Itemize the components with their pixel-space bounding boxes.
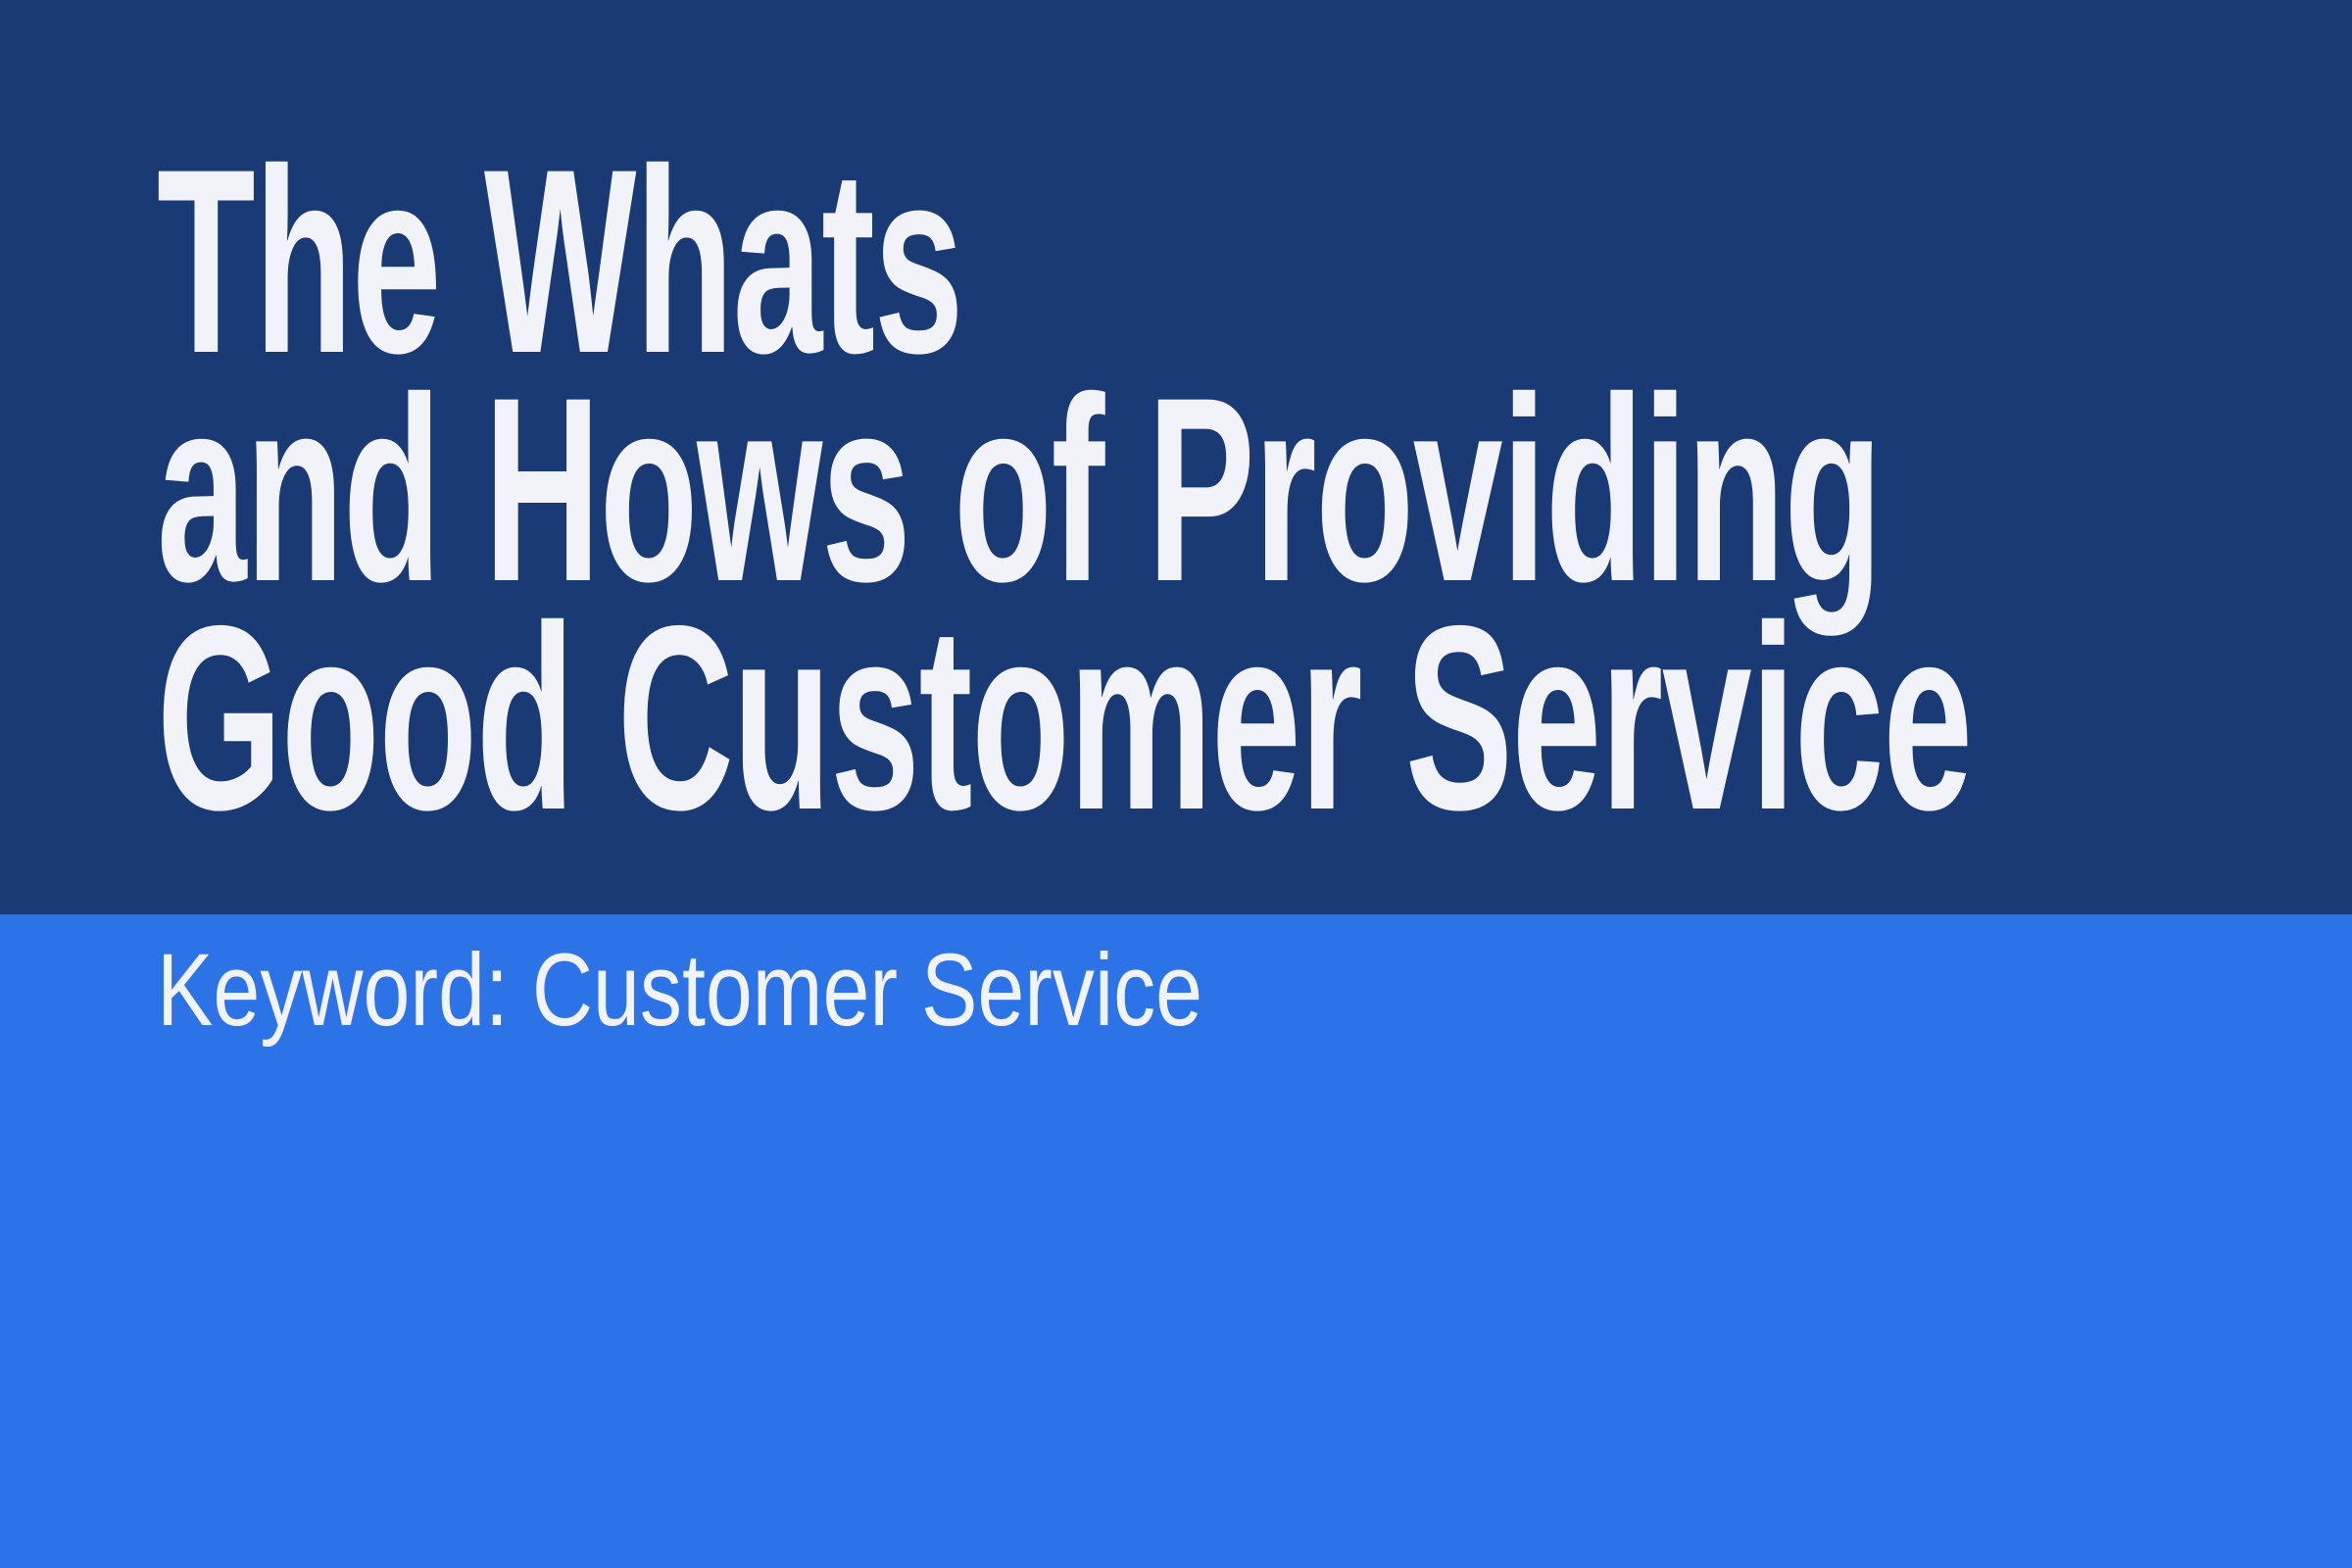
keyword-subtitle: Keyword: Customer Service	[157, 933, 1202, 1049]
title-line-3: Good Customer Service	[157, 604, 1458, 832]
title-slide: The Whats and Hows of Providing Good Cus…	[0, 0, 2352, 1568]
page-title: The Whats and Hows of Providing Good Cus…	[157, 147, 2274, 832]
